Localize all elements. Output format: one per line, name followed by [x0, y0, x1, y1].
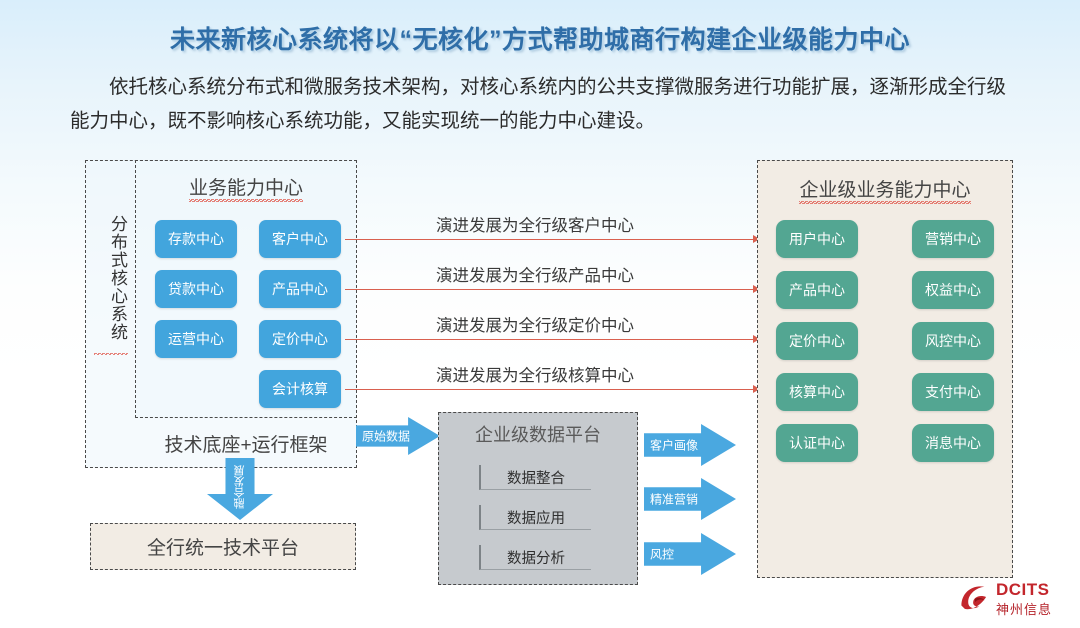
- evolution-label-customer: 演进发展为全行级客户中心: [436, 212, 634, 236]
- chip-loan-center[interactable]: 贷款中心: [155, 270, 237, 308]
- chip-auth-center[interactable]: 认证中心: [776, 424, 858, 462]
- arrow-precision-marketing-label: 精准营销: [650, 491, 698, 508]
- arrow-customer-profile-label: 客户画像: [650, 437, 698, 454]
- arrow-raw-data-label: 原始数据: [362, 428, 410, 445]
- company-logo: DCITS 神州信息: [958, 578, 1076, 620]
- dp-item-application[interactable]: 数据应用: [479, 505, 591, 530]
- chip-marketing-center[interactable]: 营销中心: [912, 220, 994, 258]
- chip-customer-center[interactable]: 客户中心: [259, 220, 341, 258]
- evolution-label-product: 演进发展为全行级产品中心: [436, 262, 634, 286]
- chip-ent-pricing-center[interactable]: 定价中心: [776, 322, 858, 360]
- enterprise-capability-center-title: 企业级业务能力中心: [758, 175, 1012, 202]
- evolution-arrow-line-accounting: [345, 389, 754, 390]
- arrow-risk-control-label: 风控: [650, 546, 674, 563]
- arrow-precision-marketing: 精准营销: [644, 478, 736, 520]
- dp-item-integration[interactable]: 数据整合: [479, 465, 591, 490]
- evolution-arrow-line-product: [345, 289, 754, 290]
- chip-pricing-center[interactable]: 定价中心: [259, 320, 341, 358]
- evolution-arrow-line-pricing: [345, 339, 754, 340]
- enterprise-data-platform-title: 企业级数据平台: [439, 421, 637, 447]
- chip-ent-product-center[interactable]: 产品中心: [776, 271, 858, 309]
- dcits-swirl-icon: [958, 580, 992, 614]
- chip-risk-center[interactable]: 风控中心: [912, 322, 994, 360]
- arrow-raw-data: 原始数据: [356, 417, 440, 455]
- evolution-label-accounting: 演进发展为全行级核算中心: [436, 362, 634, 386]
- business-capability-center-title: 业务能力中心: [136, 173, 356, 200]
- unified-technology-platform: 全行统一技术平台: [90, 523, 356, 570]
- chip-rights-center[interactable]: 权益中心: [912, 271, 994, 309]
- chip-ent-accounting-center[interactable]: 核算中心: [776, 373, 858, 411]
- evolution-label-pricing: 演进发展为全行级定价中心: [436, 312, 634, 336]
- chip-user-center[interactable]: 用户中心: [776, 220, 858, 258]
- page-subtitle: 依托核心系统分布式和微服务技术架构，对核心系统内的公共支撑微服务进行功能扩展，逐…: [70, 70, 1020, 138]
- logo-text-cn: 神州信息: [996, 599, 1052, 618]
- chip-operation-center[interactable]: 运营中心: [155, 320, 237, 358]
- logo-text-en: DCITS: [996, 580, 1050, 600]
- dp-item-analysis[interactable]: 数据分析: [479, 545, 591, 570]
- arrow-customer-profile: 客户画像: [644, 424, 736, 466]
- slide-canvas: 未来新核心系统将以“无核化”方式帮助城商行构建企业级能力中心 依托核心系统分布式…: [0, 0, 1080, 628]
- enterprise-data-platform-panel: 企业级数据平台 数据整合 数据应用 数据分析: [438, 412, 638, 585]
- chip-payment-center[interactable]: 支付中心: [912, 373, 994, 411]
- chip-message-center[interactable]: 消息中心: [912, 424, 994, 462]
- evolution-arrow-line-customer: [345, 239, 754, 240]
- chip-deposit-center[interactable]: 存款中心: [155, 220, 237, 258]
- arrow-fusion-development-label: 融合发展: [232, 465, 248, 509]
- chip-product-center[interactable]: 产品中心: [259, 270, 341, 308]
- arrow-risk-control: 风控: [644, 533, 736, 575]
- chip-accounting-center[interactable]: 会计核算: [259, 370, 341, 408]
- distributed-core-system-label: 分布式核心系统: [94, 215, 128, 355]
- page-title: 未来新核心系统将以“无核化”方式帮助城商行构建企业级能力中心: [0, 20, 1080, 56]
